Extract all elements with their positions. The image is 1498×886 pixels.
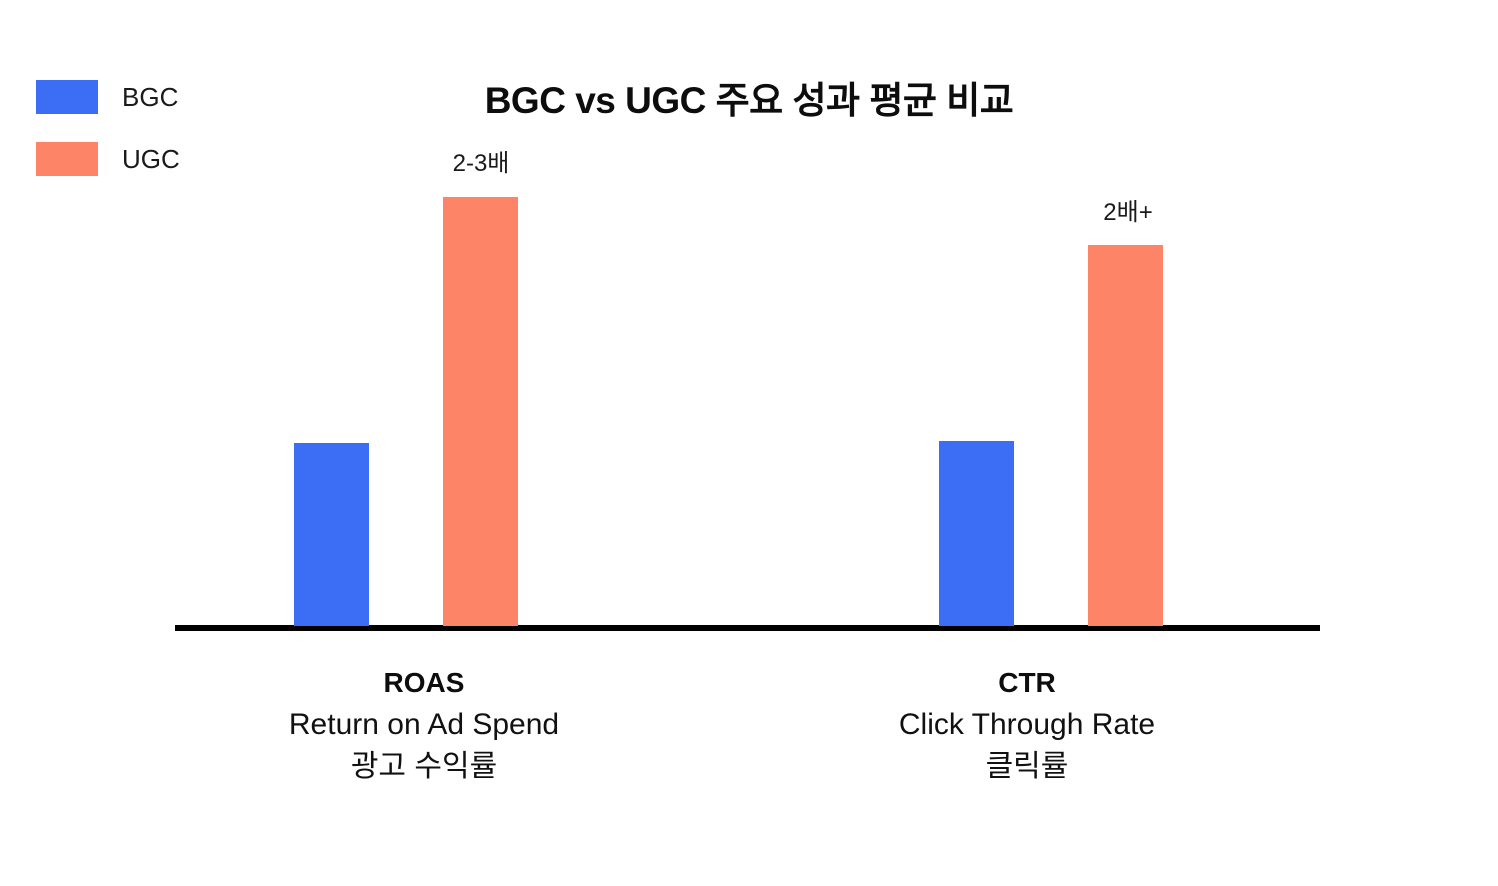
category-label-roas: ROAS Return on Ad Spend 광고 수익률 xyxy=(289,662,559,788)
chart-canvas: BGC UGC BGC vs UGC 주요 성과 평균 비교 2-3배 2배+ … xyxy=(0,0,1498,886)
category-full-ctr: Click Through Rate xyxy=(899,704,1155,746)
bar-bgc-ctr[interactable] xyxy=(939,441,1014,626)
bar-bgc-roas[interactable] xyxy=(294,443,369,626)
bar-ugc-ctr[interactable] xyxy=(1088,245,1163,626)
category-label-ctr: CTR Click Through Rate 클릭률 xyxy=(899,662,1155,788)
category-abbr-roas: ROAS xyxy=(289,662,559,704)
bar-annotation-roas: 2-3배 xyxy=(453,152,510,176)
category-korean-roas: 광고 수익률 xyxy=(289,746,559,788)
bar-ugc-roas[interactable] xyxy=(443,197,518,626)
bar-annotation-ctr: 2배+ xyxy=(1103,201,1152,225)
category-full-roas: Return on Ad Spend xyxy=(289,704,559,746)
category-abbr-ctr: CTR xyxy=(899,662,1155,704)
category-korean-ctr: 클릭률 xyxy=(899,746,1155,788)
plot-area: 2-3배 2배+ ROAS Return on Ad Spend 광고 수익률 … xyxy=(0,0,1498,886)
